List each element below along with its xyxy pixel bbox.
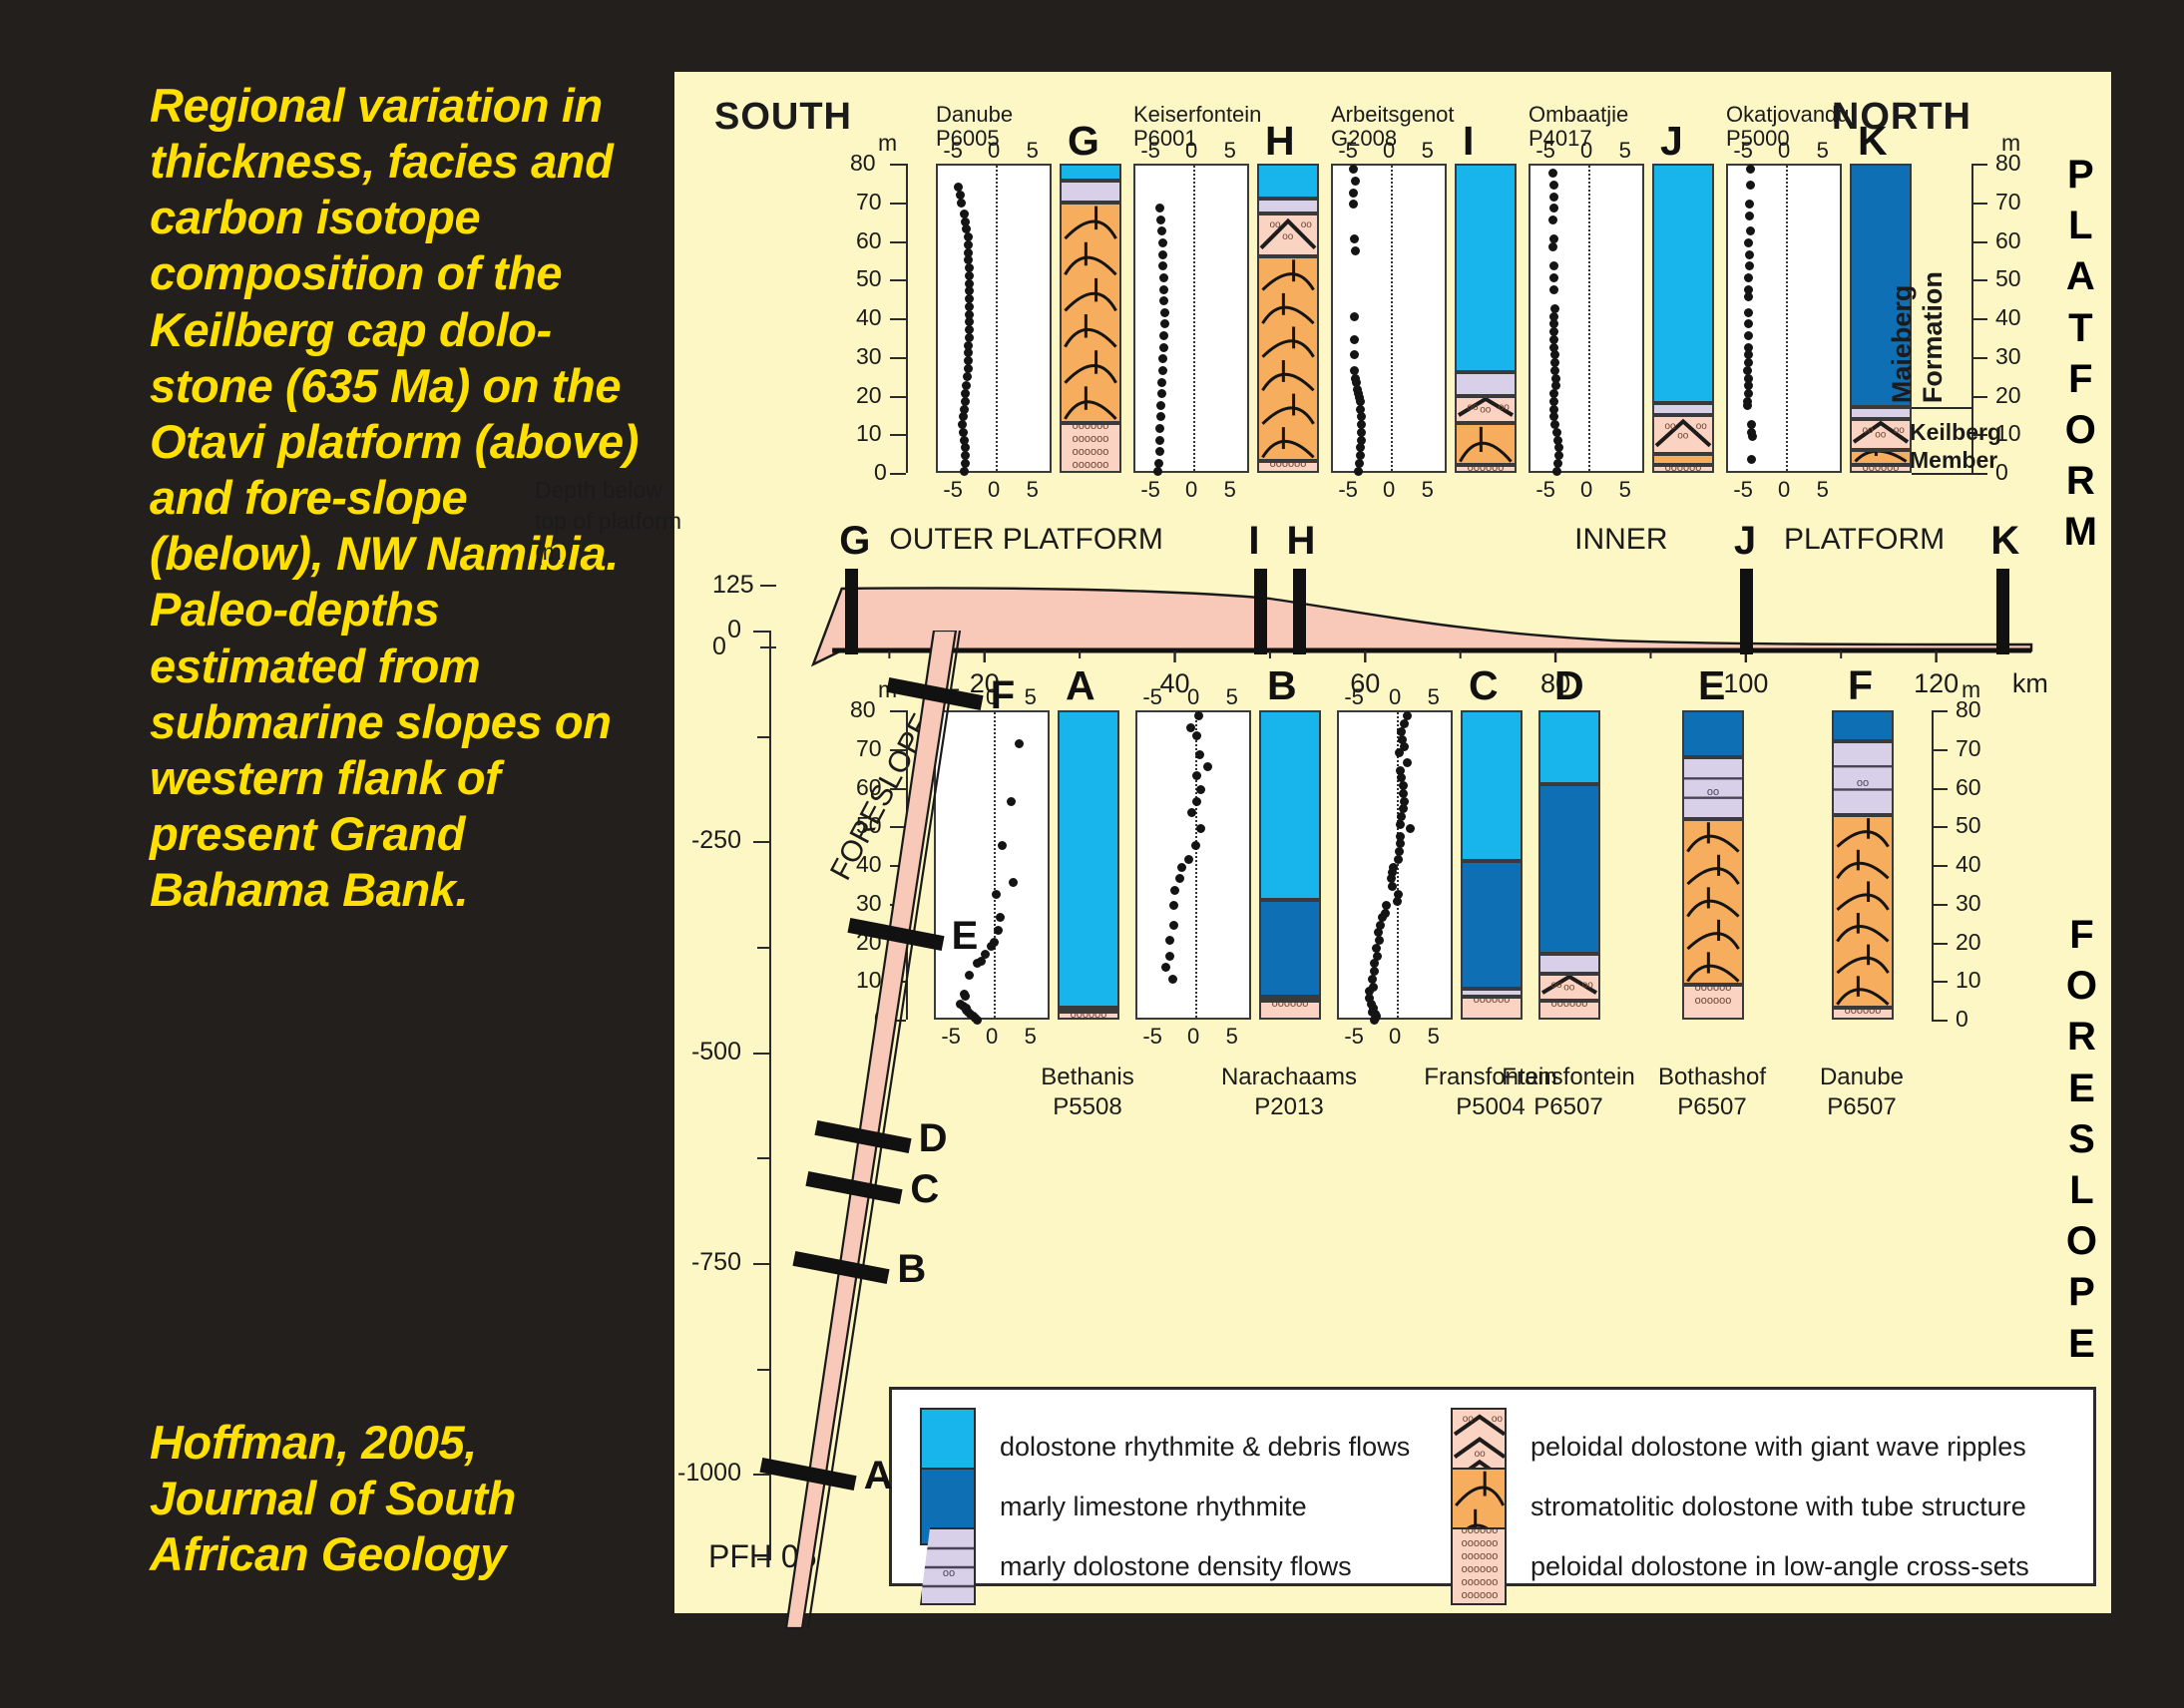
keilberg-bracket-lower xyxy=(1912,473,1971,475)
data-point xyxy=(1157,378,1166,387)
d13c-axis-ticks: -505 xyxy=(1337,684,1453,706)
litho-layer-light-blue xyxy=(1461,710,1523,861)
d13c-axis-ticks: -505 xyxy=(936,138,1052,160)
profile-marker-h xyxy=(1293,569,1306,654)
lithology-column: oooooooo xyxy=(1832,710,1894,1020)
data-point xyxy=(1548,215,1557,224)
data-point xyxy=(1170,886,1179,895)
litho-layer-cross-sets: oooooo xyxy=(1538,1001,1600,1020)
data-point xyxy=(1394,855,1403,864)
data-point xyxy=(1157,389,1166,398)
data-point xyxy=(1159,343,1168,352)
ruler-tick xyxy=(1932,749,1948,751)
axis-tick-label: -5 xyxy=(1535,138,1555,164)
data-point xyxy=(1156,412,1165,421)
d13c-axis-ticks: -505 xyxy=(1726,477,1842,499)
axis-tick-label: 0 xyxy=(988,477,1000,503)
litho-layer-cross-sets: oooooo xyxy=(1832,1008,1894,1020)
profile-letter-g: G xyxy=(839,519,870,564)
axis-tick-label: 0 xyxy=(1580,138,1592,164)
lithology-column: oooooooooooooo xyxy=(1682,710,1744,1020)
ruler-tick xyxy=(890,473,906,475)
data-point xyxy=(1155,447,1164,456)
axis-tick-label: -5 xyxy=(1344,684,1364,710)
svg-text:oooooo: oooooo xyxy=(1073,425,1109,432)
d13c-axis-ticks: -505 xyxy=(1529,477,1644,499)
data-point xyxy=(1746,165,1755,174)
litho-layer-marly xyxy=(1455,372,1517,395)
data-point xyxy=(1351,177,1360,186)
data-point xyxy=(1161,963,1170,972)
litho-layer-light-blue xyxy=(1060,164,1121,181)
data-point xyxy=(960,467,969,476)
axis-tick-label: 5 xyxy=(1428,684,1440,710)
zero-line xyxy=(1786,166,1788,471)
data-point xyxy=(956,191,965,200)
data-point xyxy=(1156,215,1165,224)
profile-marker-i xyxy=(1254,569,1267,654)
data-point xyxy=(1744,238,1753,247)
litho-layer-stromatolitic xyxy=(1832,815,1894,1009)
vertical-letter: O xyxy=(2066,961,2097,1012)
data-point xyxy=(1160,308,1169,317)
svg-text:oo: oo xyxy=(1499,402,1511,413)
section-letter-d: D xyxy=(1554,662,1584,709)
ruler-tick-label: 40 xyxy=(1956,851,1981,878)
svg-text:oooooo: oooooo xyxy=(1551,1003,1588,1010)
profile-depth-tick-label: 125 xyxy=(712,571,754,600)
data-point xyxy=(1184,855,1193,864)
ruler-tick xyxy=(890,279,906,281)
litho-layer-cross-sets: oooooooooooo xyxy=(1682,985,1744,1020)
svg-text:oo: oo xyxy=(1677,430,1689,441)
svg-text:oooooo: oooooo xyxy=(1863,467,1900,471)
data-point xyxy=(1548,242,1557,251)
axis-tick-label: 0 xyxy=(1187,684,1199,710)
data-point xyxy=(1744,308,1753,317)
litho-layer-marly xyxy=(1461,989,1523,997)
axis-tick-label: 5 xyxy=(1224,477,1236,503)
ruler-tick-label: 20 xyxy=(1995,382,2021,409)
axis-tick-label: -5 xyxy=(1338,138,1358,164)
data-point xyxy=(957,199,966,208)
depth-axis-title: Depth below top of platform (m) xyxy=(535,475,694,568)
data-point xyxy=(1746,181,1755,190)
ruler-tick-label: 50 xyxy=(1995,265,2021,292)
litho-layer-light-blue xyxy=(1538,710,1600,784)
keilberg-member-label-line2: Member xyxy=(1910,447,1997,474)
data-point xyxy=(1192,731,1201,740)
axis-tick-label: 5 xyxy=(1226,1024,1238,1050)
section-letter-i: I xyxy=(1463,118,1474,165)
data-point xyxy=(1744,331,1753,340)
axis-tick-label: 0 xyxy=(1185,138,1197,164)
litho-layer-stromatolitic xyxy=(1455,423,1517,466)
ruler-tick xyxy=(890,164,906,166)
vertical-letter: F xyxy=(2068,354,2092,405)
ruler-tick xyxy=(1971,241,1987,243)
data-point xyxy=(1549,261,1558,270)
d13c-axis-ticks: -505 xyxy=(1726,138,1842,160)
data-point xyxy=(1165,952,1174,961)
litho-layer-marly xyxy=(1652,403,1714,415)
axis-tick-label: -5 xyxy=(1344,1024,1364,1050)
axis-tick-label: -5 xyxy=(943,477,963,503)
litho-layer-marly: oo xyxy=(1832,741,1894,815)
profile-marker-j xyxy=(1740,569,1753,654)
litho-layer-stromatolitic xyxy=(1257,256,1319,461)
litho-layer-wave-ripples: oooooo xyxy=(1850,419,1912,450)
ruler-tick-label: 70 xyxy=(1995,189,2021,215)
section-sample-id: P6507 xyxy=(1762,1093,1962,1121)
ruler-tick-label: 60 xyxy=(856,227,882,254)
data-point xyxy=(1395,748,1404,757)
profile-letter-j: J xyxy=(1734,519,1756,564)
data-point xyxy=(1744,319,1753,328)
d13c-axis-ticks: -505 xyxy=(936,477,1052,499)
axis-tick-label: 0 xyxy=(1389,1024,1401,1050)
axis-tick-label: -5 xyxy=(1140,477,1160,503)
section-site-name: Narachaams xyxy=(1189,1064,1389,1091)
svg-text:oo: oo xyxy=(1862,425,1874,436)
zone-inner-a: INNER xyxy=(1574,523,1667,557)
data-point xyxy=(1175,874,1184,883)
svg-text:oo: oo xyxy=(1563,982,1575,993)
data-point xyxy=(1153,467,1162,476)
foreslope-letter-d: D xyxy=(919,1116,948,1161)
ruler-tick-label: 20 xyxy=(856,382,882,409)
ruler-tick xyxy=(1932,981,1948,983)
axis-tick-label: -5 xyxy=(943,138,963,164)
litho-layer-light-blue xyxy=(1259,710,1321,900)
data-point xyxy=(1168,975,1177,984)
zero-line xyxy=(1391,166,1393,471)
section-letter-k: K xyxy=(1858,118,1888,165)
svg-text:oooooo: oooooo xyxy=(1073,459,1109,471)
axis-tick-label: 5 xyxy=(1817,138,1829,164)
data-point xyxy=(1745,200,1754,209)
svg-text:oooooo: oooooo xyxy=(1272,1003,1309,1010)
axis-tick-label: 0 xyxy=(1389,684,1401,710)
zero-line xyxy=(996,166,998,471)
d13c-axis-ticks: -505 xyxy=(1529,138,1644,160)
section-letter-b: B xyxy=(1267,662,1297,709)
ruler-tick-label: 70 xyxy=(856,189,882,215)
data-point xyxy=(1396,820,1405,829)
svg-text:oooooo: oooooo xyxy=(1462,1550,1499,1562)
axis-tick-label: 0 xyxy=(1185,477,1197,503)
svg-text:oo: oo xyxy=(1875,429,1887,440)
axis-tick-label: 5 xyxy=(1428,1024,1440,1050)
zone-outer-platform: OUTER PLATFORM xyxy=(889,523,1162,557)
data-point xyxy=(1743,401,1752,410)
data-point xyxy=(1549,193,1558,202)
litho-layer-stromatolitic xyxy=(1060,203,1121,423)
litho-layer-dark-blue xyxy=(1461,861,1523,989)
axis-tick-label: 5 xyxy=(1619,138,1631,164)
vertical-letter: L xyxy=(2069,1165,2093,1216)
svg-text:oo: oo xyxy=(1582,980,1594,991)
svg-text:oo: oo xyxy=(1475,1449,1487,1460)
platform-metre-ruler-left: m01020304050607080 xyxy=(834,164,924,473)
litho-layer-stromatolitic xyxy=(1850,450,1912,466)
d13c-axis-ticks: -505 xyxy=(1133,477,1249,499)
litho-layer-cross-sets: oooooooooooooooooooooooo xyxy=(1060,423,1121,473)
profile-letter-h: H xyxy=(1287,519,1316,564)
data-point xyxy=(1349,189,1358,198)
litho-layer-marly xyxy=(1060,181,1121,202)
data-point xyxy=(1403,758,1412,767)
data-point xyxy=(1192,797,1201,806)
data-point xyxy=(1196,824,1205,833)
section-letter-c: C xyxy=(1469,662,1499,709)
litho-layer-cross-sets: oooooo xyxy=(1257,461,1319,473)
ruler-tick xyxy=(1932,865,1948,867)
ruler-tick-label: 0 xyxy=(1956,1006,1968,1033)
ruler-tick xyxy=(1932,1020,1948,1022)
data-point xyxy=(1195,750,1204,759)
section-site-name: Arbeitsgenot xyxy=(1331,102,1455,128)
lithology-column: oooooooooooo xyxy=(1455,164,1517,473)
zero-line xyxy=(1588,166,1590,471)
ruler-tick-label: 30 xyxy=(1956,890,1981,917)
data-point xyxy=(1549,181,1558,190)
section-k: OkatjovanduP5000K-505-505oooooooooooo xyxy=(1726,164,1912,473)
axis-tick-label: 5 xyxy=(1422,477,1434,503)
data-point xyxy=(1350,234,1359,243)
ruler-tick-label: 0 xyxy=(874,459,887,486)
ruler-tick-label: 70 xyxy=(1956,735,1981,762)
ruler-tick-label: 40 xyxy=(856,304,882,331)
svg-text:oooooo: oooooo xyxy=(1073,433,1109,445)
axis-tick-label: 0 xyxy=(988,138,1000,164)
data-point xyxy=(1406,824,1415,833)
ruler-tick xyxy=(890,434,906,436)
svg-text:oooooo: oooooo xyxy=(1665,467,1702,471)
ruler-tick xyxy=(1932,904,1948,906)
section-j: OmbaatjieP4017J-505-505oooooooooooo xyxy=(1529,164,1714,473)
section-d: Doooooooooooo xyxy=(1538,710,1600,1020)
section-e: Eoooooooooooooo xyxy=(1682,710,1744,1020)
profile-letter-i: I xyxy=(1248,519,1259,564)
ruler-tick-label: 10 xyxy=(856,420,882,447)
foreslope-axis-tick-label: -1000 xyxy=(677,1459,741,1488)
ruler-spine xyxy=(906,164,908,473)
profile-marker-k xyxy=(1996,569,2009,654)
svg-text:oo: oo xyxy=(1282,231,1294,242)
data-point xyxy=(1349,200,1358,209)
litho-layer-marly xyxy=(1257,199,1319,214)
litho-layer-stromatolitic xyxy=(1682,819,1744,986)
ruler-tick-label: 50 xyxy=(1956,812,1981,839)
ruler-tick xyxy=(890,203,906,205)
foreslope-letter-c: C xyxy=(910,1167,939,1212)
section-sample-id: P2013 xyxy=(1189,1093,1389,1121)
litho-layer-wave-ripples: oooooo xyxy=(1257,213,1319,256)
data-point xyxy=(1744,292,1753,301)
north-label: NORTH xyxy=(1832,96,1971,139)
data-point xyxy=(1370,1016,1379,1025)
lithology-column: oooooooooooo xyxy=(1257,164,1319,473)
data-point xyxy=(1549,204,1558,213)
section-i: ArbeitsgenotG2008I-505-505oooooooooooo xyxy=(1331,164,1517,473)
km-unit-label: km xyxy=(2012,668,2048,698)
svg-text:oooooo: oooooo xyxy=(1270,463,1307,470)
ruler-tick xyxy=(1971,279,1987,281)
section-b: B-505-505oooooo xyxy=(1135,710,1321,1020)
ruler-tick xyxy=(1971,203,1987,205)
litho-layer-wave-ripples: oooooo xyxy=(1652,415,1714,454)
lithology-column: oooooooooooo xyxy=(1538,710,1600,1020)
litho-layer-dark-blue xyxy=(1538,784,1600,955)
litho-layer-marly xyxy=(1850,407,1912,419)
ruler-tick-label: 50 xyxy=(856,265,882,292)
foreslope-vertical-label: FORESLOPE xyxy=(2066,910,2097,1370)
ruler-tick xyxy=(1971,357,1987,359)
section-site-name: Danube xyxy=(1762,1064,1962,1091)
section-c: C-505-505oooooo xyxy=(1337,710,1523,1020)
axis-tick-label: 5 xyxy=(1027,138,1039,164)
svg-text:oo: oo xyxy=(1550,980,1562,991)
axis-tick-label: -5 xyxy=(1140,138,1160,164)
d13c-axis-ticks: -505 xyxy=(1331,138,1447,160)
data-point xyxy=(1155,204,1164,213)
ruler-tick-label: 40 xyxy=(1995,304,2021,331)
d13c-scatter-plot xyxy=(1135,710,1251,1020)
section-letter-j: J xyxy=(1660,118,1683,165)
svg-text:oo: oo xyxy=(1894,425,1906,436)
litho-layer-light-blue xyxy=(1455,164,1517,372)
data-point xyxy=(1350,312,1359,321)
axis-tick-label: -5 xyxy=(1535,477,1555,503)
ruler-tick xyxy=(1932,788,1948,790)
ruler-tick-label: 80 xyxy=(850,150,876,177)
data-point xyxy=(1350,350,1359,359)
data-point xyxy=(1191,841,1200,850)
zero-line xyxy=(1193,166,1195,471)
d13c-axis-ticks: -505 xyxy=(1135,1024,1251,1046)
litho-layer-cross-sets: oooooo xyxy=(1461,997,1523,1020)
ruler-tick-label: 60 xyxy=(1995,227,2021,254)
foreslope-metre-ruler-right: m01020304050607080 xyxy=(1932,710,2021,1020)
section-letter-g: G xyxy=(1068,118,1099,165)
data-point xyxy=(1349,165,1358,174)
section-site-name: Keiserfontein xyxy=(1133,102,1261,128)
figure-panel: SOUTH NORTH PLATFORM FORESLOPE DanubeP60… xyxy=(674,72,2111,1613)
data-point xyxy=(1158,366,1167,375)
ruler-tick-label: 20 xyxy=(1956,929,1981,956)
data-point xyxy=(1169,921,1178,930)
axis-tick-label: -5 xyxy=(1338,477,1358,503)
data-point xyxy=(1196,785,1205,794)
vertical-letter: O xyxy=(2065,405,2096,456)
vertical-letter: T xyxy=(2068,303,2092,354)
litho-layer-cross-sets: oooooo xyxy=(1652,465,1714,473)
data-point xyxy=(1194,711,1203,720)
d13c-scatter-plot xyxy=(936,164,1052,473)
foreslope-letter-a: A xyxy=(864,1454,893,1498)
km-tick-label: 120 xyxy=(1914,668,1959,698)
svg-text:oo: oo xyxy=(1480,404,1492,415)
data-point xyxy=(1159,285,1168,294)
svg-text:oo: oo xyxy=(1492,1414,1504,1425)
vertical-letter: F xyxy=(2069,910,2093,961)
data-point xyxy=(1745,261,1754,270)
svg-text:oo: oo xyxy=(1467,402,1479,413)
svg-text:oooooo: oooooo xyxy=(1462,1589,1499,1601)
depth-axis-title-text: Depth below top of platform (m) xyxy=(535,477,681,565)
section-site-name: Okatjovandu xyxy=(1726,102,1850,128)
svg-text:oooooo: oooooo xyxy=(1695,995,1732,1007)
figure-credit: Hoffman, 2005, Journal of South African … xyxy=(150,1415,649,1582)
profile-depth-tick xyxy=(760,585,776,587)
litho-layer-light-blue xyxy=(1257,164,1319,199)
keilberg-member-label-line1: Keilberg xyxy=(1910,419,2001,446)
litho-layer-light-blue xyxy=(1652,164,1714,403)
ruler-tick xyxy=(1971,318,1987,320)
axis-tick-label: 0 xyxy=(1580,477,1592,503)
litho-layer-stromatolitic xyxy=(1652,454,1714,466)
data-point xyxy=(1156,401,1165,410)
litho-layer-marly: oo xyxy=(1682,757,1744,819)
data-point xyxy=(1158,354,1167,363)
ruler-tick-label: 60 xyxy=(1956,774,1981,801)
data-point xyxy=(1155,436,1164,445)
data-point xyxy=(1157,226,1166,235)
section-f: Foooooooo xyxy=(1832,710,1894,1020)
litho-layer-cross-sets: oooooo xyxy=(1259,1001,1321,1020)
d13c-scatter-plot xyxy=(1726,164,1842,473)
svg-text:oo: oo xyxy=(1857,777,1869,789)
axis-tick-label: 0 xyxy=(1383,138,1395,164)
unit-metre-label: m xyxy=(878,130,897,157)
ruler-tick xyxy=(890,396,906,398)
data-point xyxy=(1177,863,1186,872)
data-point xyxy=(1158,250,1167,259)
axis-tick-label: -5 xyxy=(1142,1024,1162,1050)
litho-layer-wave-ripples: oooooo xyxy=(1455,396,1517,423)
data-point xyxy=(1159,331,1168,340)
ruler-tick-label: 30 xyxy=(856,343,882,370)
lithology-column: oooooo xyxy=(1461,710,1523,1020)
data-point xyxy=(1552,467,1561,476)
data-point xyxy=(1746,226,1755,235)
vertical-letter: R xyxy=(2066,456,2095,507)
data-point xyxy=(1159,296,1168,305)
svg-text:oooooo: oooooo xyxy=(1468,467,1505,471)
data-point xyxy=(1393,897,1402,906)
litho-layer-cross-sets: oooooo xyxy=(1455,465,1517,473)
vertical-letter: L xyxy=(2068,201,2092,251)
d13c-scatter-plot xyxy=(1337,710,1453,1020)
axis-tick-label: 5 xyxy=(1817,477,1829,503)
data-point xyxy=(1155,424,1164,433)
vertical-letter: P xyxy=(2068,1267,2095,1318)
data-point xyxy=(1745,212,1754,220)
data-point xyxy=(1159,273,1168,282)
data-point xyxy=(1158,261,1167,270)
svg-text:oooooo: oooooo xyxy=(1462,1529,1499,1536)
vertical-letter: R xyxy=(2067,1012,2096,1063)
ruler-tick xyxy=(1932,826,1948,828)
data-point xyxy=(1354,467,1363,476)
litho-layer-dark-blue xyxy=(1259,900,1321,997)
data-point xyxy=(1351,246,1360,255)
axis-tick-label: 5 xyxy=(1422,138,1434,164)
ruler-tick-label: 80 xyxy=(1956,696,1981,723)
litho-layer-dark-blue xyxy=(1832,710,1894,741)
svg-text:oo: oo xyxy=(1707,785,1719,797)
